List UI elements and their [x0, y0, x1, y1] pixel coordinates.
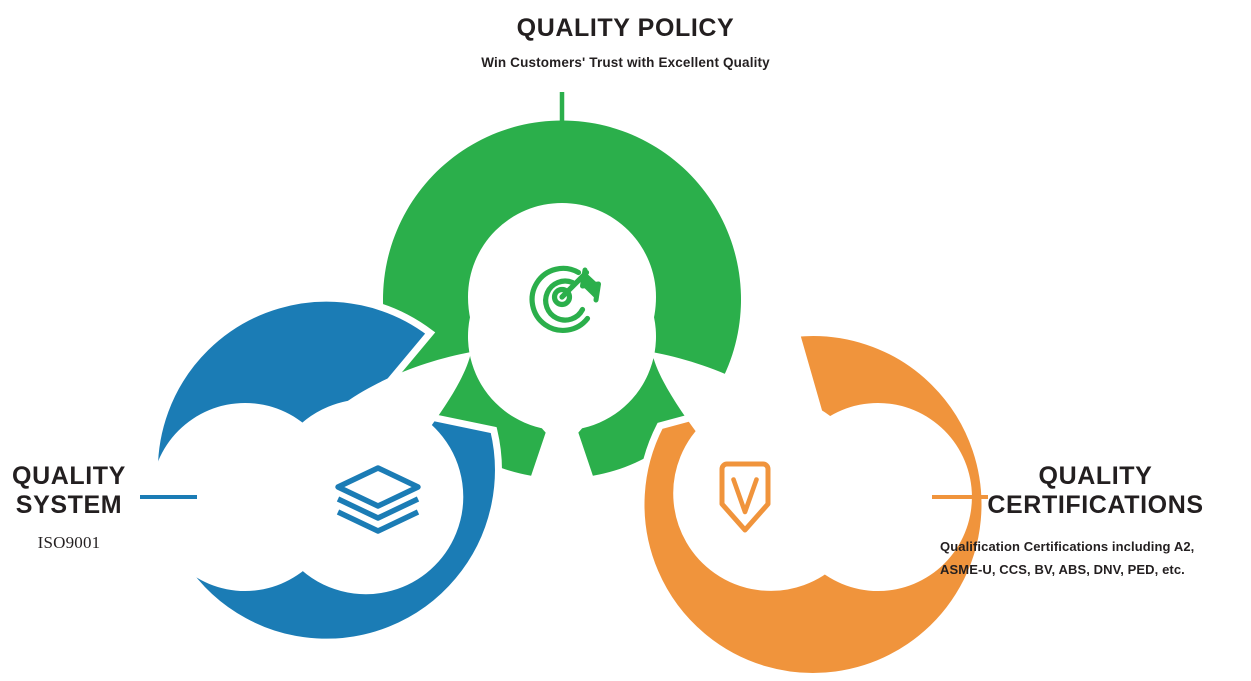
top-label-block: QUALITY POLICY Win Customers' Trust with… — [0, 14, 1251, 70]
left-subtitle: ISO9001 — [0, 533, 138, 553]
right-subtitle: Qualification Certifications including A… — [940, 535, 1251, 582]
top-title: QUALITY POLICY — [0, 14, 1251, 44]
right-label-block: QUALITY CERTIFICATIONS Qualification Cer… — [940, 462, 1251, 582]
right-subtitle-line1: Qualification Certifications including A… — [940, 535, 1251, 559]
left-title-line2: SYSTEM — [0, 491, 138, 520]
right-title-line2: CERTIFICATIONS — [940, 491, 1251, 520]
right-subtitle-line2: ASME-U, CCS, BV, ABS, DNV, PED, etc. — [940, 558, 1251, 582]
infographic-canvas: QUALITY POLICY Win Customers' Trust with… — [0, 0, 1251, 681]
top-subtitle: Win Customers' Trust with Excellent Qual… — [0, 55, 1251, 70]
left-title-line1: QUALITY — [0, 462, 138, 491]
right-title-line1: QUALITY — [940, 462, 1251, 491]
left-label-block: QUALITY SYSTEM ISO9001 — [0, 462, 138, 553]
